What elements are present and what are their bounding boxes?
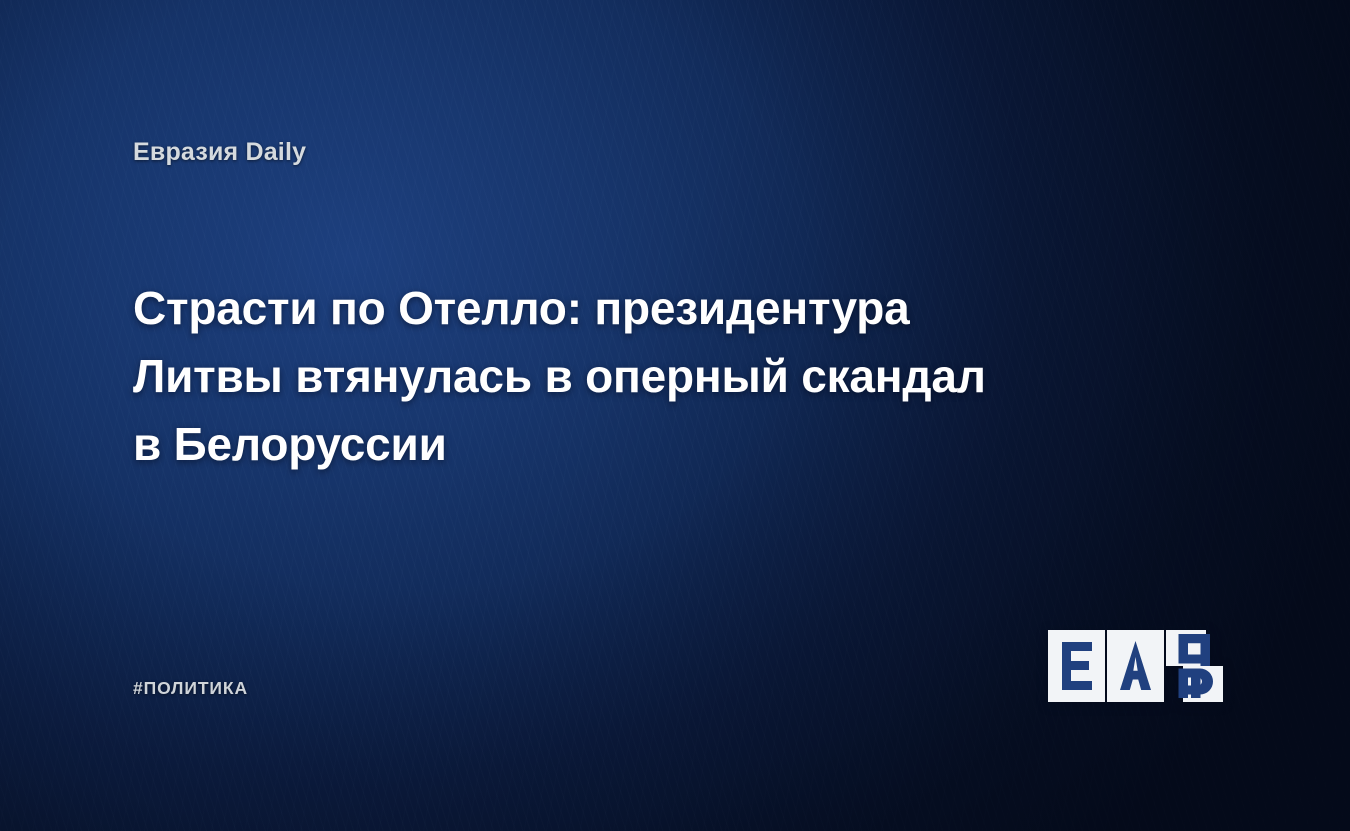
category-hashtag[interactable]: #ПОЛИТИКА (133, 678, 248, 699)
headline-line-2: Литвы втянулась в оперный скандал (133, 342, 1153, 410)
headline-line-1: Страсти по Отелло: президентура (133, 274, 1153, 342)
logo-tile-a (1107, 630, 1164, 702)
logo-tile-e (1048, 630, 1105, 702)
card-content: Евразия Daily Страсти по Отелло: президе… (0, 0, 1350, 831)
headline-line-3: в Белоруссии (133, 410, 1153, 478)
eadaily-logo[interactable] (1048, 630, 1223, 702)
letter-e-icon (1048, 630, 1105, 702)
brand-label: Евразия Daily (133, 138, 306, 167)
letter-a-icon (1107, 630, 1164, 702)
letter-d-icon (1166, 630, 1223, 702)
logo-tile-d (1166, 630, 1223, 702)
page-title: Страсти по Отелло: президентура Литвы вт… (133, 274, 1153, 478)
news-share-card: Евразия Daily Страсти по Отелло: президе… (0, 0, 1350, 831)
